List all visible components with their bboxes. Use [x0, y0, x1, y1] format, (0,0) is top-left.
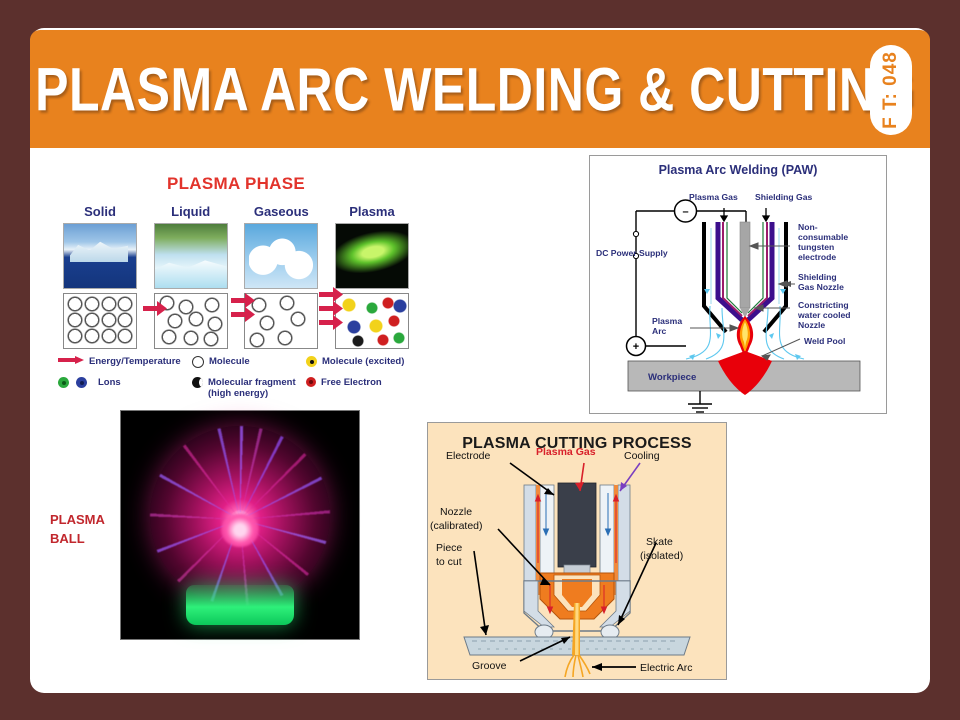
molecule-diagram-plasma: [335, 293, 409, 349]
legend-label-fragment-line2: (high energy): [208, 388, 268, 399]
electric-arc-sparks: [565, 655, 590, 677]
blue-ion-icon: [76, 377, 87, 388]
paw-label-constricting-l2: water cooled: [797, 310, 851, 320]
paw-label-plasma-arc-l1: Plasma: [652, 316, 682, 326]
phase-column-liquid: Liquid: [152, 204, 230, 349]
phase-column-gaseous: Gaseous: [242, 204, 320, 349]
legend-label-free-electron: Free Electron: [321, 377, 382, 388]
plasma-ball-caption-line2: BALL: [50, 531, 85, 546]
iceberg-photo: [63, 223, 137, 289]
slide-root: PLASMA ARC WELDING & CUTTING F T: 048 PL…: [0, 0, 960, 720]
black-fragment-icon: [192, 377, 203, 388]
cutting-label-nozzle-l1: Nozzle: [440, 506, 472, 518]
page-title: PLASMA ARC WELDING & CUTTING: [80, 44, 870, 137]
paw-label-constricting-l1: Constricting: [798, 300, 849, 310]
paw-label-shielding-gas: Shielding Gas: [755, 192, 813, 202]
phase-label-liquid: Liquid: [152, 204, 230, 219]
legend-item-molecule: Molecule: [192, 356, 250, 368]
legend-item-free-electron: Free Electron: [306, 377, 382, 388]
paw-label-constricting-l3: Nozzle: [798, 320, 825, 330]
cutting-label-nozzle-l2: (calibrated): [430, 520, 483, 532]
molecule-diagram-gaseous: [244, 293, 318, 349]
legend-item-ions: Lons: [58, 377, 121, 388]
slide-number-badge: F T: 048: [870, 45, 912, 135]
paw-label-power-supply: DC Power Supply: [596, 248, 668, 258]
plasma-ball-base: [186, 585, 294, 625]
paw-label-electrode-l4: electrode: [798, 252, 836, 262]
paw-label-shield-nozzle-l2: Gas Nozzle: [798, 282, 844, 292]
phase-column-solid: Solid: [61, 204, 139, 349]
red-arrow-icon: [58, 356, 84, 364]
paw-label-electrode-l3: tungsten: [798, 242, 834, 252]
paw-label-electrode-l1: Non-: [798, 222, 818, 232]
paw-schematic: – + DC Power Supply: [590, 156, 886, 413]
legend-item-energy: Energy/Temperature: [58, 356, 181, 367]
paw-label-plasma-gas: Plasma Gas: [689, 192, 738, 202]
paw-label-shield-nozzle-l1: Shielding: [798, 272, 837, 282]
phase-label-plasma: Plasma: [333, 204, 411, 219]
phase-columns: Solid Liquid Gaseous Plasma: [55, 204, 417, 349]
slide-number-text: F T: 048: [880, 51, 902, 129]
green-ion-icon: [58, 377, 69, 388]
plasma-cutting-figure: PLASMA CUTTING PROCESS: [427, 422, 727, 680]
plasma-phase-title: PLASMA PHASE: [55, 174, 417, 194]
positive-terminal-label: +: [633, 341, 639, 353]
plasma-ball-photo: [120, 410, 360, 640]
red-dot-icon: [306, 377, 316, 387]
cutting-label-piece-l2: to cut: [436, 556, 462, 568]
negative-terminal-label: –: [682, 206, 688, 218]
legend-label-ions: Lons: [98, 377, 121, 388]
cutting-label-cooling: Cooling: [624, 450, 660, 462]
plasma-ball-caption-line1: PLASMA: [50, 512, 105, 527]
legend-item-fragment: Molecular fragment (high energy): [192, 377, 296, 399]
open-circle-icon: [192, 356, 204, 368]
molecule-diagram-liquid: [154, 293, 228, 349]
yellow-dot-icon: [306, 356, 317, 367]
plasma-ball-caption: PLASMA BALL: [50, 510, 120, 548]
phase-label-solid: Solid: [61, 204, 139, 219]
cutting-electrode: [558, 483, 596, 567]
title-bar: PLASMA ARC WELDING & CUTTING: [30, 30, 930, 148]
cutting-label-electric-arc: Electric Arc: [640, 662, 693, 674]
plasma-ball-core: [221, 513, 259, 547]
paw-label-electrode-l2: consumable: [798, 232, 848, 242]
cutting-label-electrode: Electrode: [446, 450, 491, 462]
waterfall-photo: [154, 223, 228, 289]
cutting-label-piece-l1: Piece: [436, 542, 462, 554]
legend-label-fragment: Molecular fragment (high energy): [208, 377, 296, 399]
paw-label-weld-pool: Weld Pool: [804, 336, 845, 346]
cutting-label-groove: Groove: [472, 660, 507, 672]
cutting-label-skate-l1: Skate: [646, 536, 673, 548]
legend-label-molecule: Molecule: [209, 356, 250, 367]
molecule-diagram-solid: [63, 293, 137, 349]
cutting-label-skate-l2: (isolated): [640, 550, 683, 562]
phase-legend: Energy/Temperature Molecule Molecule (ex…: [58, 356, 418, 408]
paw-label-workpiece: Workpiece: [648, 372, 696, 383]
tungsten-electrode: [740, 222, 750, 308]
phase-column-plasma: Plasma: [333, 204, 411, 349]
paw-label-plasma-arc-l2: Arc: [652, 326, 667, 336]
legend-label-energy: Energy/Temperature: [89, 356, 181, 367]
paw-diagram: Plasma Arc Welding (PAW) – + DC Power Su…: [589, 155, 887, 414]
legend-label-fragment-line1: Molecular fragment: [208, 377, 296, 388]
legend-item-molecule-excited: Molecule (excited): [306, 356, 404, 367]
legend-label-molecule-excited: Molecule (excited): [322, 356, 404, 367]
cutting-label-plasma-gas: Plasma Gas: [536, 446, 596, 458]
plasma-cutting-schematic: Electrode Plasma Gas Cooling Nozzle (cal…: [428, 423, 726, 679]
clouds-photo: [244, 223, 318, 289]
phase-label-gaseous: Gaseous: [242, 204, 320, 219]
aurora-photo: [335, 223, 409, 289]
